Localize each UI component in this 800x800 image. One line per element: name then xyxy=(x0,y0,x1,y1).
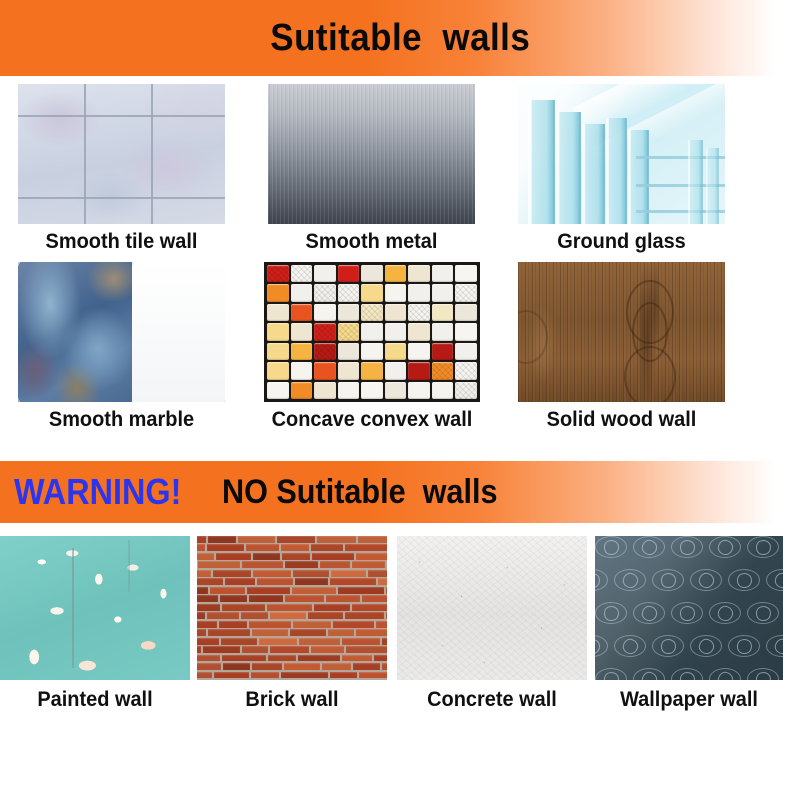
mosaic-tile xyxy=(432,362,454,379)
wall-sample-wallpaper-wall[interactable]: Wallpaper wall xyxy=(595,536,783,712)
mosaic-tile xyxy=(432,323,454,340)
brick-course xyxy=(197,621,387,628)
mosaic-tile xyxy=(408,304,430,321)
mosaic-tile xyxy=(291,304,313,321)
mosaic-tile xyxy=(314,304,336,321)
mosaic-tile xyxy=(314,362,336,379)
brick-course xyxy=(197,587,387,594)
mosaic-tile xyxy=(408,284,430,301)
mosaic-tile xyxy=(385,265,407,282)
wall-sample-brick-wall[interactable]: Brick wall xyxy=(197,536,387,712)
wall-sample-concrete-wall[interactable]: Concrete wall xyxy=(397,536,587,712)
wall-sample-label: Concave convex wall xyxy=(269,408,474,432)
brick-course xyxy=(197,646,387,653)
concave-convex-wall-image xyxy=(264,262,480,402)
mosaic-tile xyxy=(291,362,313,379)
wall-sample-solid-wood-wall[interactable]: Solid wood wall xyxy=(518,262,725,432)
mosaic-tile xyxy=(385,304,407,321)
brick-course xyxy=(197,604,387,611)
mosaic-tile xyxy=(338,382,360,399)
mosaic-tile xyxy=(361,265,383,282)
mosaic-tile xyxy=(338,323,360,340)
brick-course xyxy=(197,536,387,543)
mosaic-tile xyxy=(432,265,454,282)
mosaic-tile xyxy=(267,382,289,399)
solid-wood-wall-image xyxy=(518,262,725,402)
mosaic-tile xyxy=(338,362,360,379)
warning-label: WARNING! xyxy=(14,471,181,513)
page-title: Sutitable walls xyxy=(270,17,530,60)
brick-course xyxy=(197,672,387,679)
mosaic-tile xyxy=(361,284,383,301)
mosaic-tile xyxy=(385,382,407,399)
brick-course xyxy=(197,629,387,636)
mosaic-tile xyxy=(338,284,360,301)
mosaic-tile xyxy=(408,265,430,282)
smooth-metal-image xyxy=(268,84,475,224)
painted-wall-image xyxy=(0,536,190,680)
mosaic-tile xyxy=(361,382,383,399)
mosaic-tile xyxy=(267,284,289,301)
mosaic-tile xyxy=(338,265,360,282)
mosaic-tile xyxy=(385,323,407,340)
mosaic-tile xyxy=(408,362,430,379)
mosaic-tile xyxy=(291,284,313,301)
mosaic-tile xyxy=(338,343,360,360)
mosaic-tile xyxy=(361,304,383,321)
mosaic-tile xyxy=(361,343,383,360)
mosaic-tile xyxy=(267,343,289,360)
suitable-header-banner: Sutitable walls xyxy=(0,0,800,76)
wall-sample-ground-glass[interactable]: Ground glass xyxy=(518,84,725,254)
mosaic-tile xyxy=(314,323,336,340)
mosaic-tile xyxy=(408,343,430,360)
wall-sample-label: Brick wall xyxy=(202,688,383,712)
mosaic-tile xyxy=(314,343,336,360)
wall-sample-smooth-marble[interactable]: Smooth marble xyxy=(18,262,225,432)
wallpaper-wall-image xyxy=(595,536,783,680)
mosaic-tile xyxy=(291,382,313,399)
brick-course xyxy=(197,553,387,560)
ground-glass-image xyxy=(518,84,725,224)
wall-sample-label: Wallpaper wall xyxy=(600,688,779,712)
warning-banner: WARNING! NO Sutitable walls xyxy=(0,461,800,523)
mosaic-tile xyxy=(291,323,313,340)
mosaic-tile xyxy=(408,382,430,399)
wall-sample-label: Painted wall xyxy=(5,688,186,712)
mosaic-tile xyxy=(267,265,289,282)
brick-course xyxy=(197,595,387,602)
brick-course xyxy=(197,561,387,568)
mosaic-tile xyxy=(291,343,313,360)
mosaic-tile xyxy=(267,304,289,321)
wall-sample-smooth-tile-wall[interactable]: Smooth tile wall xyxy=(18,84,225,254)
wall-sample-concave-convex-wall[interactable]: Concave convex wall xyxy=(264,262,480,432)
warning-title: NO Sutitable walls xyxy=(222,473,497,512)
brick-course xyxy=(197,578,387,585)
mosaic-tile xyxy=(385,343,407,360)
wall-sample-smooth-metal[interactable]: Smooth metal xyxy=(268,84,475,254)
wall-sample-painted-wall[interactable]: Painted wall xyxy=(0,536,190,712)
mosaic-tile xyxy=(455,304,477,321)
mosaic-tile xyxy=(361,362,383,379)
brick-course xyxy=(197,663,387,670)
concrete-wall-image xyxy=(397,536,587,680)
smooth-tile-wall-image xyxy=(18,84,225,224)
brick-course xyxy=(197,612,387,619)
brick-course xyxy=(197,570,387,577)
brick-wall-image xyxy=(197,536,387,680)
mosaic-tile xyxy=(314,284,336,301)
wall-sample-label: Smooth marble xyxy=(23,408,220,432)
mosaic-tile xyxy=(432,382,454,399)
mosaic-tile xyxy=(455,323,477,340)
unsuitable-walls-row: Painted wall Brick wall Concrete wall Wa… xyxy=(0,536,800,736)
suitable-walls-grid: Smooth tile wall Smooth metal Ground gla… xyxy=(0,84,800,454)
smooth-marble-image xyxy=(18,262,225,402)
mosaic-tile xyxy=(432,343,454,360)
mosaic-tile xyxy=(455,343,477,360)
brick-course xyxy=(197,544,387,551)
mosaic-tile xyxy=(455,284,477,301)
mosaic-tile xyxy=(455,382,477,399)
wall-sample-label: Ground glass xyxy=(523,230,720,254)
mosaic-tile xyxy=(432,304,454,321)
mosaic-tile xyxy=(385,362,407,379)
mosaic-tile xyxy=(267,362,289,379)
mosaic-tile xyxy=(314,382,336,399)
mosaic-tile xyxy=(338,304,360,321)
mosaic-tile xyxy=(408,323,430,340)
mosaic-tile xyxy=(455,362,477,379)
mosaic-tile xyxy=(314,265,336,282)
mosaic-tile xyxy=(291,265,313,282)
mosaic-tile xyxy=(432,284,454,301)
mosaic-tile xyxy=(267,323,289,340)
wall-sample-label: Solid wood wall xyxy=(523,408,720,432)
mosaic-tile xyxy=(455,265,477,282)
mosaic-tile xyxy=(385,284,407,301)
wall-sample-label: Concrete wall xyxy=(402,688,583,712)
brick-course xyxy=(197,638,387,645)
tile-grout-lines xyxy=(18,84,225,224)
wall-sample-label: Smooth metal xyxy=(273,230,470,254)
wall-sample-label: Smooth tile wall xyxy=(23,230,220,254)
mosaic-tile xyxy=(361,323,383,340)
brick-course xyxy=(197,655,387,662)
